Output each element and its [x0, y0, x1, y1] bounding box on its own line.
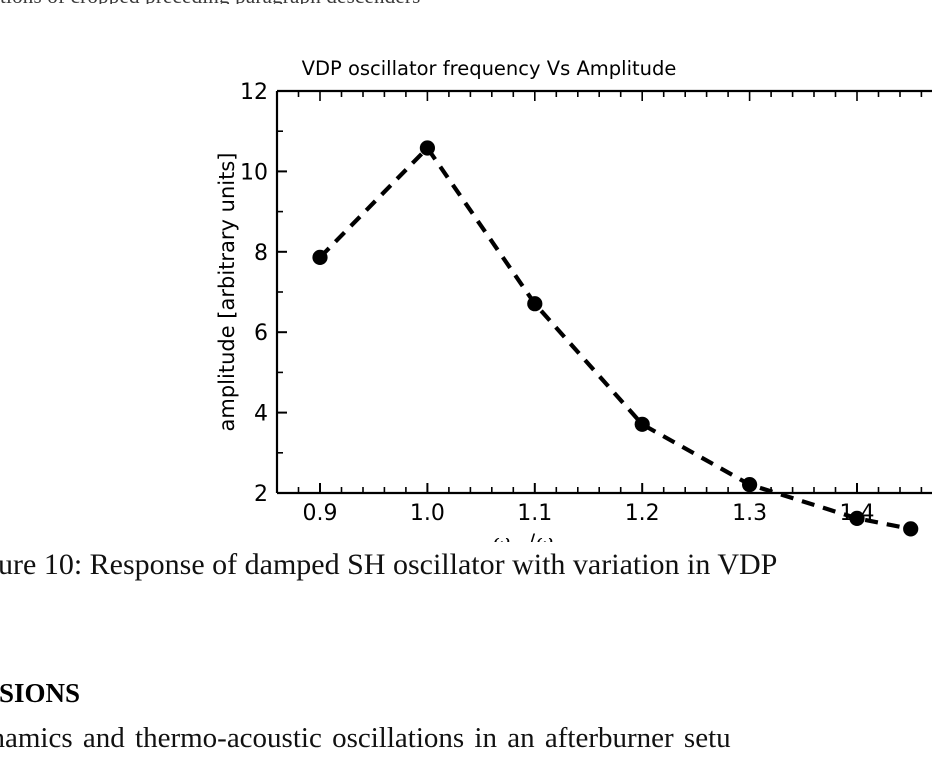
- cropped-text-sliver: tions of cropped preceding paragraph des…: [0, 0, 932, 4]
- section-heading-text: CONCLUSIONS: [0, 676, 80, 710]
- y-tick-label: 12: [240, 80, 268, 105]
- x-tick-label: 1.1: [517, 501, 552, 526]
- vdp-oscillator-chart: VDP oscillator frequency Vs Amplitude: [0, 42, 932, 542]
- x-tick-label: 1.0: [410, 501, 445, 526]
- y-tick-label: 2: [254, 482, 268, 507]
- y-tick-label: 10: [240, 160, 268, 185]
- y-tick-label: 6: [254, 321, 268, 346]
- y-tick-label: 8: [254, 241, 268, 266]
- data-point: [635, 417, 650, 432]
- y-axis-label: amplitude [arbitrary units]: [215, 153, 239, 432]
- figure-caption: Figure 10: Response of damped SH oscilla…: [0, 543, 932, 587]
- chart-title: VDP oscillator frequency Vs Amplitude: [302, 57, 677, 80]
- section-heading: CONCLUSIONS: [0, 676, 932, 710]
- data-point: [903, 521, 918, 536]
- x-axis-label-omega2: ω: [536, 530, 553, 542]
- x-axis-label-slash: /: [528, 530, 536, 542]
- x-axis-label-sub1: n1: [510, 541, 529, 542]
- body-paragraph: ynamics and thermo-acoustic oscillations…: [0, 718, 932, 758]
- chart-background: [0, 42, 932, 542]
- x-tick-label: 1.3: [732, 501, 767, 526]
- data-point: [312, 250, 327, 265]
- x-tick-label: 0.9: [303, 501, 338, 526]
- x-tick-label: 1.2: [625, 501, 660, 526]
- data-point: [742, 477, 757, 492]
- x-axis-label-sub2: n2: [553, 541, 572, 542]
- figure-block: VDP oscillator frequency Vs Amplitude: [0, 42, 932, 542]
- data-point: [420, 140, 435, 155]
- body-paragraph-text: ynamics and thermo-acoustic oscillations…: [0, 718, 731, 758]
- data-point: [849, 511, 864, 526]
- figure-caption-text: Figure 10: Response of damped SH oscilla…: [0, 543, 777, 587]
- y-tick-label: 4: [254, 402, 268, 427]
- data-point: [527, 296, 542, 311]
- x-axis-label-omega1: ω: [493, 530, 510, 542]
